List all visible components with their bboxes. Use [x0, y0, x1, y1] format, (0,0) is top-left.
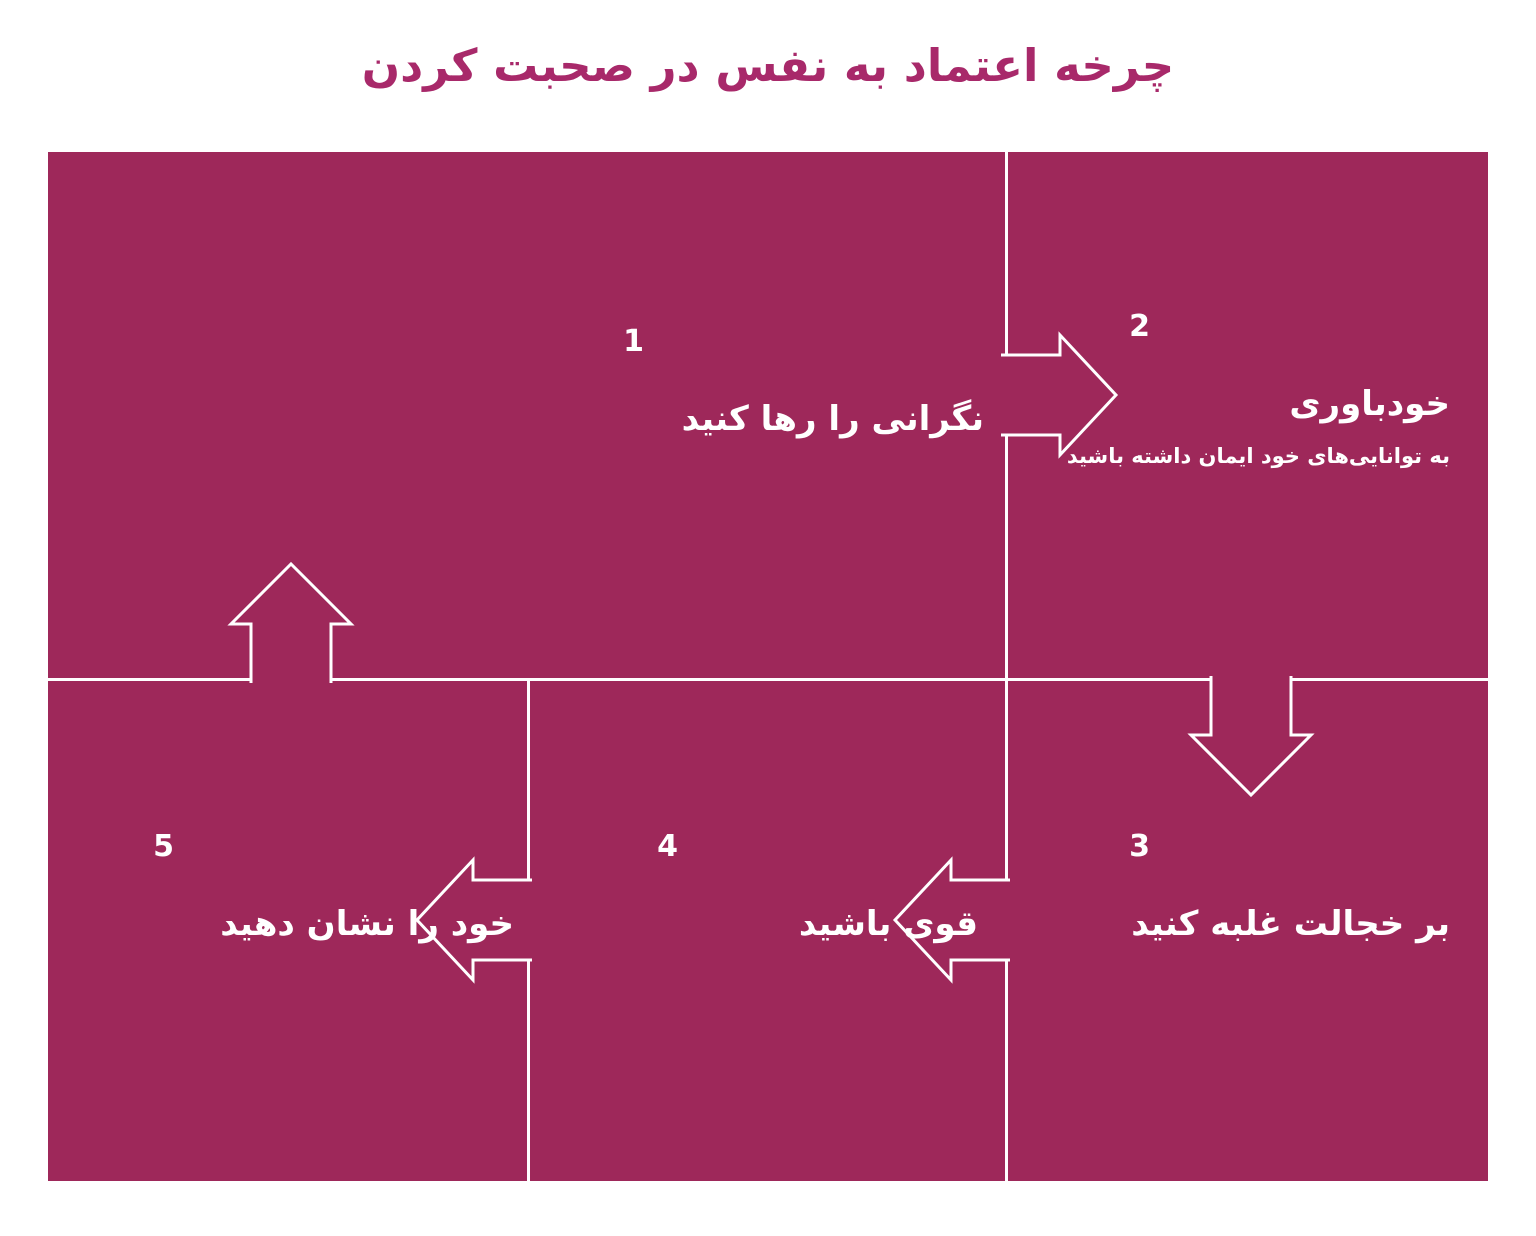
cell-3-number: 3: [1060, 832, 1450, 862]
cell-5-number: 5: [84, 832, 514, 862]
page-title: چرخه اعتماد به نفس در صحبت کردن: [0, 38, 1536, 94]
cell-2-title: خودباوری: [1060, 382, 1450, 426]
cell-1-title: نگرانی را رها کنید: [84, 397, 984, 441]
notch-mask-up-arrow: [251, 676, 331, 683]
arrow-2-to-3-icon: [1191, 676, 1311, 795]
cell-2-number: 2: [1060, 312, 1450, 342]
arrow-5-to-1-icon: [231, 564, 351, 683]
cell-1: 1 نگرانی را رها کنید: [84, 327, 984, 441]
notch-mask-right-arrow: [1003, 355, 1010, 435]
cell-4-title: قوی باشید: [588, 902, 978, 946]
notch-mask-left-arrow-1: [1003, 880, 1010, 960]
cell-2: 2 خودباوری به توانایی‌های خود ایمان داشت…: [1060, 312, 1450, 471]
cell-5: 5 خود را نشان دهید: [84, 832, 514, 946]
cell-4: 4 قوی باشید: [588, 832, 978, 946]
cell-4-number: 4: [588, 832, 978, 862]
cycle-diagram-panel: 1 نگرانی را رها کنید 2 خودباوری به توانا…: [48, 152, 1488, 1181]
notch-mask-left-arrow-2: [525, 880, 532, 960]
cell-1-number: 1: [84, 327, 984, 357]
arrow-layer: [48, 152, 1488, 1181]
cell-3: 3 بر خجالت غلبه کنید: [1060, 832, 1450, 946]
cell-5-title: خود را نشان دهید: [84, 902, 514, 946]
notch-mask-down-arrow: [1211, 676, 1291, 683]
divider-vertical-right: [1005, 152, 1008, 1181]
cell-2-subtitle: به توانایی‌های خود ایمان داشته باشید: [1060, 442, 1450, 470]
cell-3-title: بر خجالت غلبه کنید: [1060, 902, 1450, 946]
